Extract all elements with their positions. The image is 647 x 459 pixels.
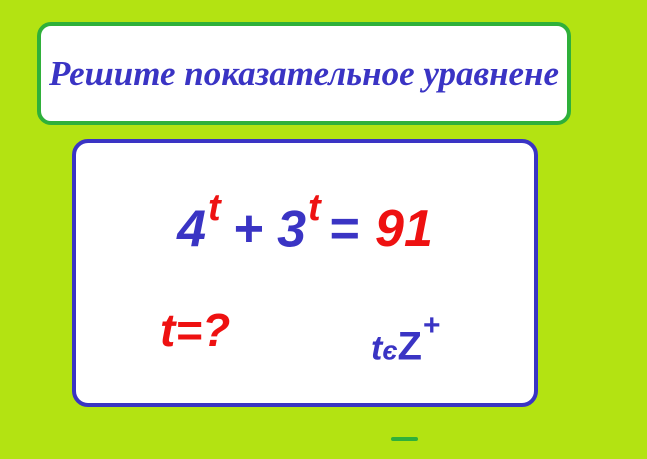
term-second: 3t — [277, 195, 319, 259]
bottom-dash-mark — [391, 437, 418, 441]
domain-variable: t — [371, 329, 382, 367]
domain-set: Z — [398, 324, 422, 368]
title-text: Решите показательное уравнене — [41, 52, 567, 96]
exponent-t-second: t — [308, 187, 321, 229]
question-text: t=? — [160, 303, 230, 357]
title-box: Решите показательное уравнене — [37, 22, 571, 125]
domain-condition: tєZ+ — [371, 321, 440, 369]
base-4: 4 — [177, 200, 206, 258]
plus-operator: + — [219, 199, 277, 259]
domain-superscript: + — [423, 309, 441, 342]
equals-sign: = — [319, 199, 369, 259]
equation-line: 4t+3t=91 — [76, 195, 534, 259]
result-value: 91 — [369, 199, 433, 259]
term-first: 4t — [177, 195, 219, 259]
equation-box: 4t+3t=91 t=? tєZ+ — [72, 139, 538, 407]
base-3: 3 — [277, 200, 306, 258]
exponent-t-first: t — [208, 187, 221, 229]
element-of-icon: є — [382, 335, 397, 365]
